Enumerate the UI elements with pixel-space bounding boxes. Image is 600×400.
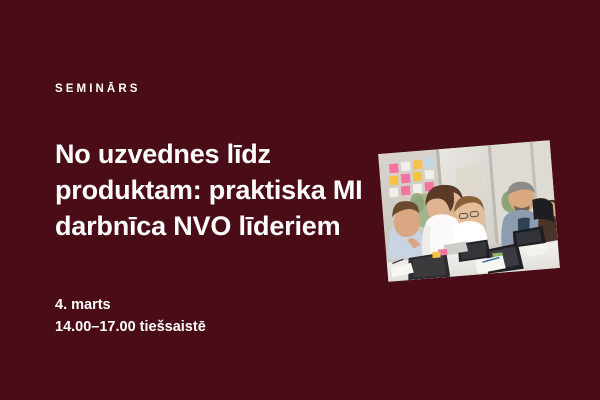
event-details: 4. marts 14.00–17.00 tiešsaistē	[55, 294, 206, 338]
headline-line-1: No uzvednes līdz	[55, 136, 375, 172]
event-photo	[378, 140, 560, 281]
event-time: 14.00–17.00 tiešsaistē	[55, 316, 206, 338]
workshop-photo-image	[378, 140, 560, 281]
headline-line-3: darbnīca NVO līderiem	[55, 208, 375, 244]
event-poster: SEMINĀRS No uzvednes līdz produktam: pra…	[0, 0, 600, 400]
workshop-scene-illustration	[378, 140, 560, 281]
headline-line-2: produktam: praktiska MI	[55, 172, 375, 208]
poster-text-column: SEMINĀRS No uzvednes līdz produktam: pra…	[55, 0, 385, 400]
event-date: 4. marts	[55, 294, 206, 316]
event-type-label: SEMINĀRS	[55, 82, 141, 96]
page-title: No uzvednes līdz produktam: praktiska MI…	[55, 136, 375, 244]
